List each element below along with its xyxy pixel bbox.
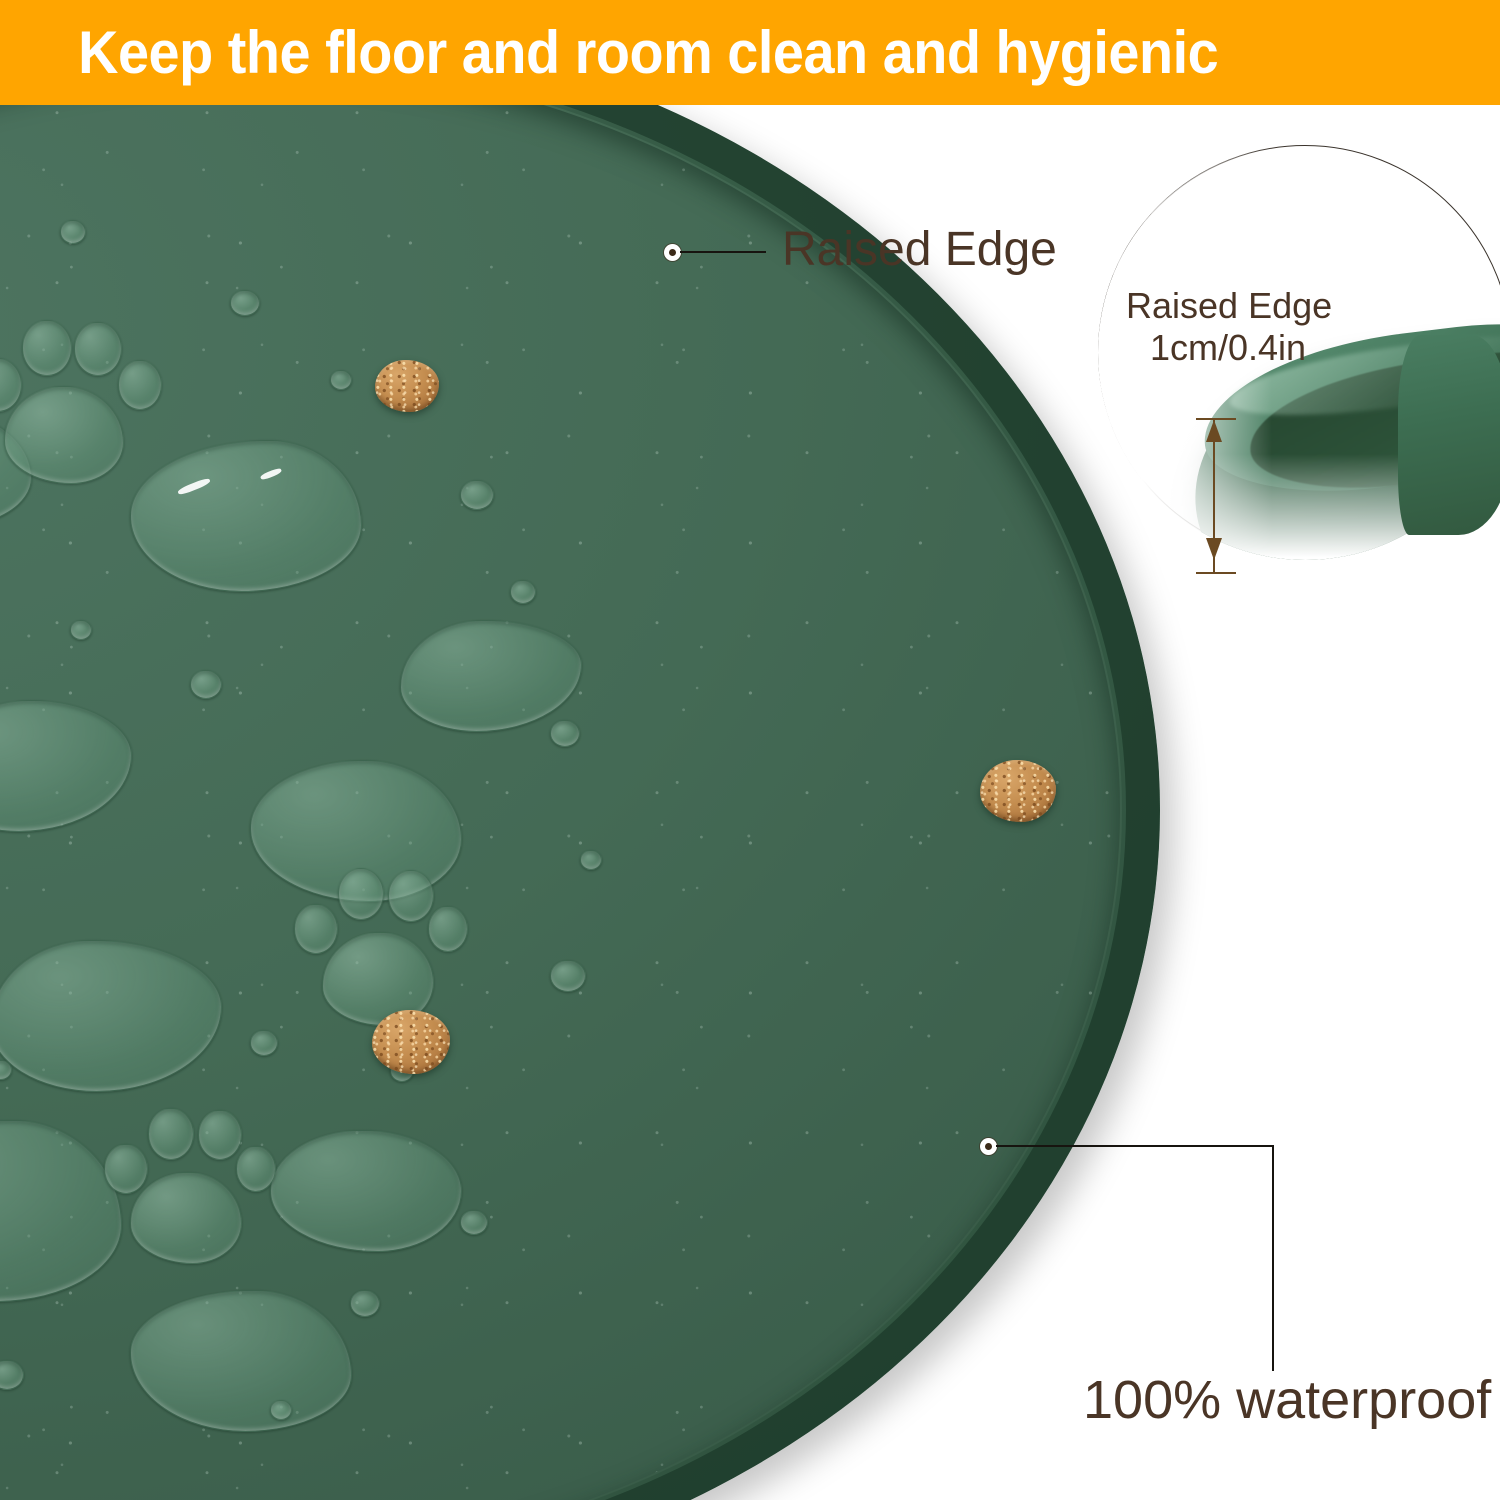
waterproof-leader-line-horizontal: [996, 1145, 1274, 1147]
kibble-piece: [375, 360, 439, 412]
raised-edge-dimension-arrow: [1196, 407, 1236, 585]
pet-food-mat: [0, 105, 1160, 1500]
dimension-arrowhead-down: [1206, 538, 1222, 560]
kibble-piece: [980, 760, 1056, 822]
kibble-piece: [372, 1010, 450, 1074]
waterproof-callout-label: 100% waterproof: [1083, 1367, 1491, 1433]
raised-edge-leader-line: [680, 251, 766, 253]
header-banner: Keep the floor and room clean and hygien…: [0, 0, 1500, 105]
raised-edge-closeup-overflow: [1398, 335, 1500, 535]
dimension-tick-bottom: [1196, 572, 1236, 574]
mat-speckle-texture: [0, 105, 1120, 1500]
waterproof-callout-dot[interactable]: [980, 1138, 997, 1155]
page-title: Keep the floor and room clean and hygien…: [0, 23, 1218, 83]
product-photo: Raised Edge 100% waterproof Raised Edge …: [0, 105, 1500, 1500]
dimension-arrowhead-up: [1206, 420, 1222, 442]
raised-edge-callout-label: Raised Edge: [782, 220, 1057, 280]
raised-edge-callout-dot[interactable]: [664, 244, 681, 261]
inset-measurement: 1cm/0.4in: [1150, 327, 1306, 369]
inset-title: Raised Edge: [1126, 285, 1332, 327]
product-infographic: Keep the floor and room clean and hygien…: [0, 0, 1500, 1500]
waterproof-leader-line-vertical: [1272, 1145, 1274, 1371]
mat-inner-surface: [0, 105, 1120, 1500]
